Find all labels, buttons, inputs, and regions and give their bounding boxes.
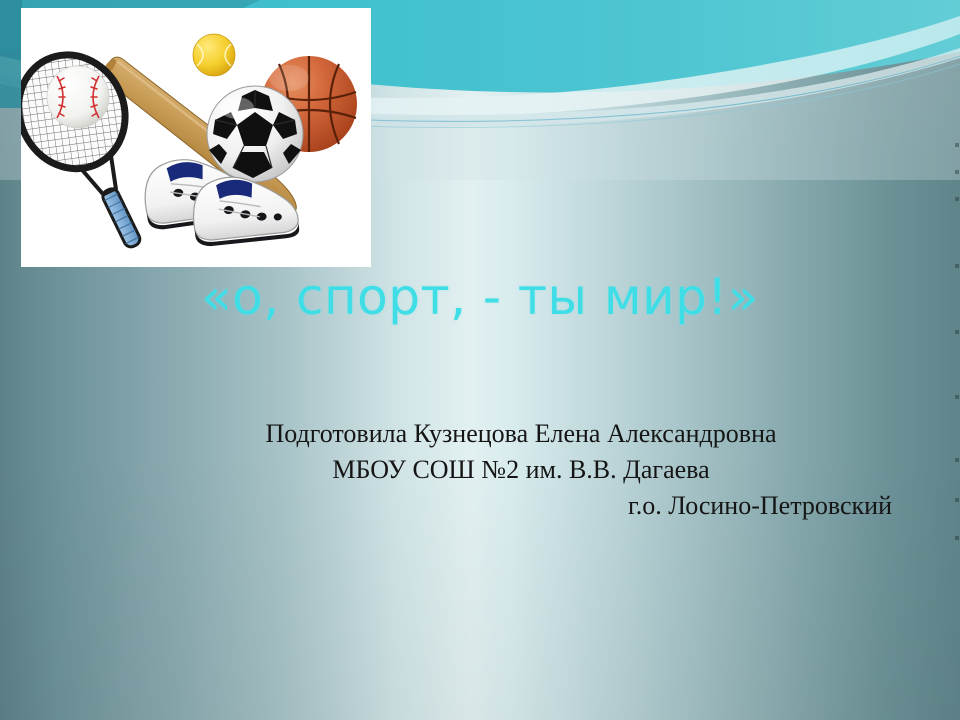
subtitle-line-author: Подготовила Кузнецова Елена Александровн…	[150, 416, 892, 452]
presentation-slide: «о, спорт, - ты мир!» Подготовила Кузнец…	[0, 0, 960, 720]
edge-mark-2	[955, 197, 959, 201]
right-edge-marks	[948, 0, 960, 720]
edge-mark-4	[955, 330, 959, 334]
edge-mark-3	[955, 264, 959, 268]
slide-subtitle: Подготовила Кузнецова Елена Александровн…	[150, 416, 892, 524]
edge-mark-5	[955, 395, 959, 399]
slide-title: «о, спорт, - ты мир!»	[40, 271, 920, 324]
edge-mark-8	[955, 536, 959, 540]
subtitle-line-school: МБОУ СОШ №2 им. В.В. Дагаева	[150, 452, 892, 488]
edge-mark-7	[955, 498, 959, 502]
edge-mark-0	[955, 143, 959, 147]
edge-mark-1	[955, 170, 959, 174]
sports-equipment-illustration	[21, 8, 371, 267]
subtitle-line-city: г.о. Лосино-Петровский	[150, 488, 892, 524]
edge-mark-6	[955, 458, 959, 462]
sports-equipment-image	[21, 8, 371, 267]
left-edge-accent	[0, 0, 22, 108]
